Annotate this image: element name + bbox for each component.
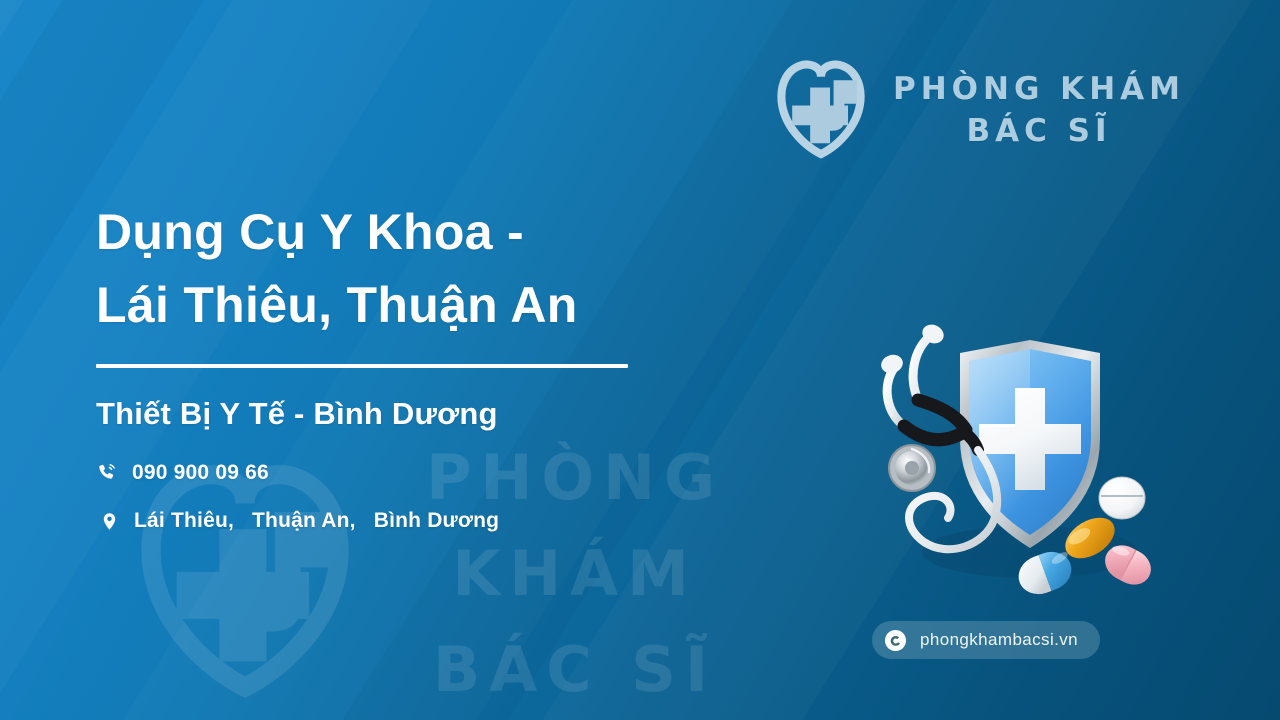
address-part-2: Thuận An,	[252, 509, 356, 533]
heart-cross-logo-icon	[767, 58, 875, 162]
page-title: Dụng Cụ Y Khoa - Lái Thiêu, Thuận An	[96, 196, 736, 342]
phone-contact[interactable]: 090 900 09 66	[96, 460, 736, 486]
watermark-line-2: BÁC SĨ	[315, 622, 835, 718]
address-text: Lái Thiêu, Thuận An, Bình Dương	[134, 509, 499, 533]
globe-icon	[884, 629, 907, 652]
white-round-tablet	[1099, 477, 1145, 519]
brand-logo-text: PHÒNG KHÁM BÁC SĨ	[893, 68, 1185, 152]
website-badge[interactable]: phongkhambacsi.vn	[872, 621, 1100, 659]
website-url: phongkhambacsi.vn	[920, 630, 1078, 650]
medical-shield-stethoscope-pills-illustration	[832, 320, 1172, 620]
subtitle: Thiết Bị Y Tế - Bình Dương	[96, 394, 736, 434]
address-part-1: Lái Thiêu,	[134, 509, 234, 533]
map-pin-icon	[98, 508, 120, 534]
address-part-3: Bình Dương	[374, 509, 499, 533]
title-line-2: Lái Thiêu, Thuận An	[96, 269, 736, 342]
divider	[96, 364, 628, 368]
brand-logo-line-1: PHÒNG KHÁM	[893, 68, 1185, 110]
brand-logo-line-2: BÁC SĨ	[893, 110, 1185, 152]
phone-number: 090 900 09 66	[132, 461, 269, 485]
brand-logo[interactable]: PHÒNG KHÁM BÁC SĨ	[767, 58, 1185, 162]
title-line-1: Dụng Cụ Y Khoa -	[96, 196, 736, 269]
promo-banner: PHÒNG KHÁM BÁC SĨ PHÒNG KHÁM BÁC SĨ Dụng…	[0, 0, 1280, 720]
phone-call-icon	[96, 460, 118, 486]
banner-content: Dụng Cụ Y Khoa - Lái Thiêu, Thuận An Thi…	[96, 196, 736, 534]
address-contact[interactable]: Lái Thiêu, Thuận An, Bình Dương	[96, 508, 736, 534]
